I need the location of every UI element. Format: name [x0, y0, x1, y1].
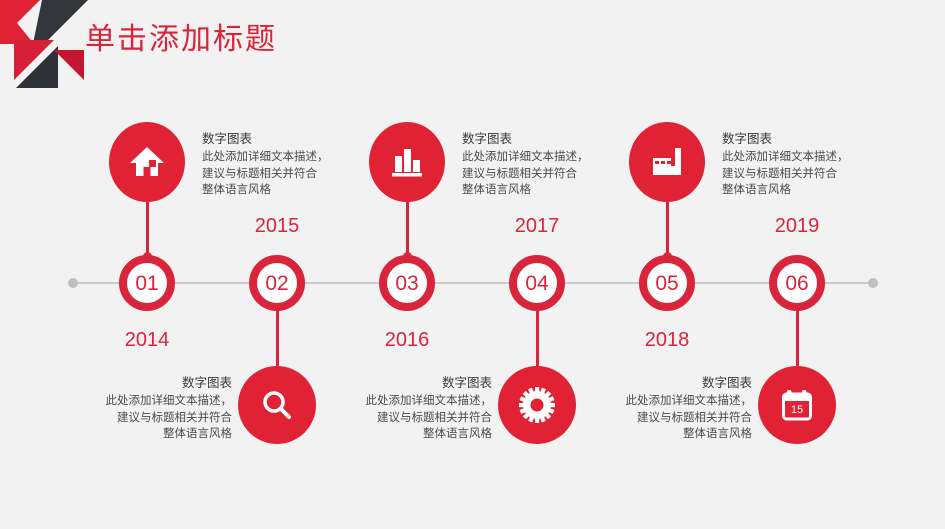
description-line: 建议与标题相关并符合 [462, 166, 630, 183]
description-line: 整体语言风格 [202, 182, 370, 199]
description-line: 此处添加详细文本描述， [462, 149, 630, 166]
description-heading: 数字图表 [722, 130, 890, 148]
stem-02 [276, 306, 279, 366]
stem-03 [406, 196, 409, 258]
description-line: 此处添加详细文本描述， [202, 149, 370, 166]
timeline-node-number: 04 [525, 273, 548, 294]
timeline-node-01[interactable]: 01 [119, 255, 175, 311]
description-line: 整体语言风格 [324, 426, 492, 443]
description-line: 整体语言风格 [584, 426, 752, 443]
icon-balloon-gear[interactable] [498, 366, 576, 444]
timeline-node-02[interactable]: 02 [249, 255, 305, 311]
description-line: 整体语言风格 [462, 182, 630, 199]
stem-06 [796, 306, 799, 366]
timeline-axis [72, 282, 872, 284]
description-line: 此处添加详细文本描述， [722, 149, 890, 166]
description-heading: 数字图表 [64, 374, 232, 392]
icon-balloon-search[interactable] [238, 366, 316, 444]
timeline-year-2014: 2014 [87, 328, 207, 352]
description-block-bottom-2: 数字图表 此处添加详细文本描述， 建议与标题相关并符合 整体语言风格 [324, 374, 492, 443]
timeline-node-06[interactable]: 06 [769, 255, 825, 311]
calendar-day-number: 15 [791, 404, 803, 416]
icon-balloon-calendar[interactable]: 15 [758, 366, 836, 444]
description-line: 建议与标题相关并符合 [64, 410, 232, 427]
timeline-axis-cap-right [868, 278, 878, 288]
description-heading: 数字图表 [324, 374, 492, 392]
brand-logo-triangles [0, 0, 90, 92]
timeline-year-2015: 2015 [217, 214, 337, 238]
description-line: 此处添加详细文本描述， [64, 393, 232, 410]
slide-canvas: 单击添加标题 [0, 0, 945, 529]
timeline-node-05[interactable]: 05 [639, 255, 695, 311]
bar-chart-icon [390, 146, 424, 178]
factory-icon [649, 146, 685, 178]
description-line: 此处添加详细文本描述， [584, 393, 752, 410]
timeline-year-2019: 2019 [737, 214, 857, 238]
gear-icon [519, 387, 555, 423]
description-heading: 数字图表 [202, 130, 370, 148]
timeline-node-number: 02 [265, 273, 288, 294]
stem-05 [666, 196, 669, 258]
description-heading: 数字图表 [462, 130, 630, 148]
description-line: 建议与标题相关并符合 [202, 166, 370, 183]
stem-01 [146, 196, 149, 258]
timeline-year-2018: 2018 [607, 328, 727, 352]
icon-balloon-home[interactable] [109, 122, 185, 202]
timeline-node-number: 06 [785, 273, 808, 294]
timeline-axis-cap-left [68, 278, 78, 288]
description-block-top-3: 数字图表 此处添加详细文本描述， 建议与标题相关并符合 整体语言风格 [722, 130, 890, 199]
description-line: 整体语言风格 [64, 426, 232, 443]
stem-04 [536, 306, 539, 366]
description-block-bottom-1: 数字图表 此处添加详细文本描述， 建议与标题相关并符合 整体语言风格 [64, 374, 232, 443]
home-icon [129, 145, 165, 179]
icon-balloon-bar-chart[interactable] [369, 122, 445, 202]
description-block-bottom-3: 数字图表 此处添加详细文本描述， 建议与标题相关并符合 整体语言风格 [584, 374, 752, 443]
timeline-node-04[interactable]: 04 [509, 255, 565, 311]
description-line: 建议与标题相关并符合 [584, 410, 752, 427]
description-line: 建议与标题相关并符合 [722, 166, 890, 183]
search-icon [260, 388, 294, 422]
calendar-icon: 15 [780, 388, 814, 422]
timeline-year-2017: 2017 [477, 214, 597, 238]
description-line: 此处添加详细文本描述， [324, 393, 492, 410]
description-block-top-2: 数字图表 此处添加详细文本描述， 建议与标题相关并符合 整体语言风格 [462, 130, 630, 199]
description-line: 建议与标题相关并符合 [324, 410, 492, 427]
page-title: 单击添加标题 [85, 18, 277, 62]
timeline-node-number: 01 [135, 273, 158, 294]
timeline-node-number: 05 [655, 273, 678, 294]
description-block-top-1: 数字图表 此处添加详细文本描述， 建议与标题相关并符合 整体语言风格 [202, 130, 370, 199]
icon-balloon-factory[interactable] [629, 122, 705, 202]
timeline-node-number: 03 [395, 273, 418, 294]
timeline-year-2016: 2016 [347, 328, 467, 352]
timeline-node-03[interactable]: 03 [379, 255, 435, 311]
description-line: 整体语言风格 [722, 182, 890, 199]
description-heading: 数字图表 [584, 374, 752, 392]
